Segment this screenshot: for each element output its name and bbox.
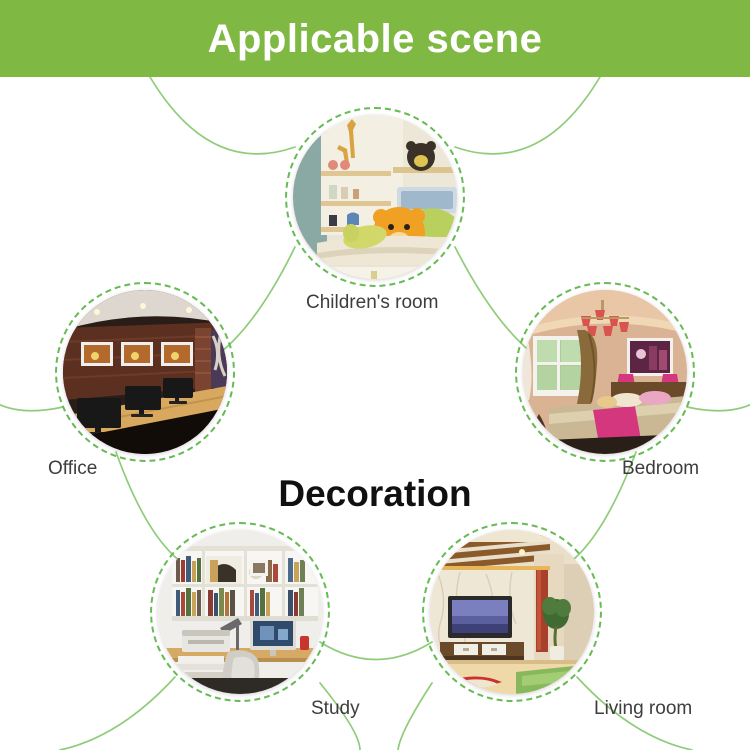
scene-caption-study: Study [311,699,360,718]
scene-node-bedroom[interactable] [515,282,695,462]
scene-ring-children [285,107,465,287]
scene-caption-bedroom: Bedroom [622,459,699,478]
applicable-scene-infographic: Applicable scene [0,0,750,750]
diagram-center-label: Decoration [0,475,750,512]
scene-diagram: Decoration [0,77,750,750]
scene-caption-living: Living room [594,699,692,718]
page-title: Applicable scene [208,19,543,59]
scene-caption-children: Children's room [306,293,438,312]
scene-ring-living [422,522,602,702]
scene-ring-bedroom [515,282,695,462]
scene-node-living[interactable] [422,522,602,702]
scene-node-study[interactable] [150,522,330,702]
scene-caption-office: Office [48,459,97,478]
header-banner: Applicable scene [0,0,750,77]
scene-ring-office [55,282,235,462]
scene-node-office[interactable] [55,282,235,462]
scene-node-children[interactable] [285,107,465,287]
scene-ring-study [150,522,330,702]
